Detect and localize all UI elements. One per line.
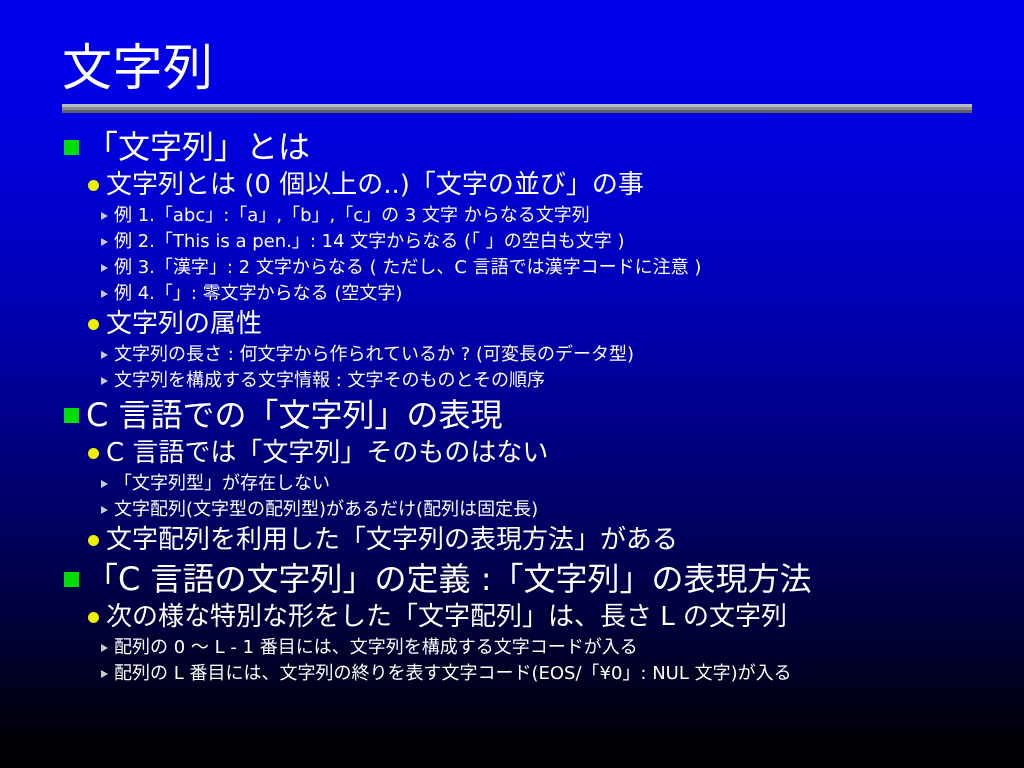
outline-item-level2: 文字列とは (0 個以上の..)「文字の並び」の事	[0, 168, 1024, 203]
outline-item-level2: 文字列の属性	[0, 307, 1024, 342]
gray-triangle-bullet	[101, 264, 108, 272]
outline-item-level3: 文字列の長さ : 何文字から作られているか ? (可変長のデータ型)	[0, 342, 1024, 368]
outline-item-level1: 「文字列」とは	[0, 126, 1024, 168]
green-square-bullet	[64, 408, 79, 423]
outline-item-label: 「文字列」とは	[86, 126, 310, 168]
outline-item-level1: C 言語での「文字列」の表現	[0, 394, 1024, 436]
outline-item-label: 文字列の長さ : 何文字から作られているか ? (可変長のデータ型)	[114, 342, 634, 368]
gray-triangle-bullet	[101, 238, 108, 246]
green-square-bullet	[64, 572, 79, 587]
outline-item-label: 例 3.「漢字」: 2 文字からなる ( ただし、C 言語では漢字コードに注意 …	[114, 255, 701, 281]
gray-triangle-bullet	[101, 670, 108, 678]
yellow-dot-bullet	[88, 319, 99, 330]
title-divider	[62, 104, 972, 113]
title-divider-shadow	[62, 110, 972, 113]
slide-body-outline: 「文字列」とは文字列とは (0 個以上の..)「文字の並び」の事例 1.「abc…	[0, 126, 1024, 687]
outline-item-label: 例 1.「abc」:「a」,「b」,「c」の 3 文字 からなる文字列	[114, 203, 590, 229]
yellow-dot-bullet	[88, 448, 99, 459]
outline-item-level1: 「C 言語の文字列」の定義 :「文字列」の表現方法	[0, 558, 1024, 600]
outline-item-level3: 例 2.「This is a pen.」: 14 文字からなる (「 」の空白も…	[0, 229, 1024, 255]
outline-item-label: 例 4.「」: 零文字からなる (空文字)	[114, 281, 402, 307]
gray-triangle-bullet	[101, 506, 108, 514]
outline-item-level3: 文字配列(文字型の配列型)があるだけ(配列は固定長)	[0, 497, 1024, 523]
gray-triangle-bullet	[101, 377, 108, 385]
yellow-dot-bullet	[88, 612, 99, 623]
outline-item-level2: C 言語では「文字列」そのものはない	[0, 436, 1024, 471]
page-title: 文字列	[62, 38, 972, 98]
outline-item-label: 文字列を構成する文字情報 : 文字そのものとその順序	[114, 368, 545, 394]
outline-item-label: 文字列の属性	[106, 307, 262, 342]
green-square-bullet	[64, 140, 79, 155]
outline-item-level3: 例 1.「abc」:「a」,「b」,「c」の 3 文字 からなる文字列	[0, 203, 1024, 229]
outline-item-label: 「C 言語の文字列」の定義 :「文字列」の表現方法	[86, 558, 811, 600]
outline-item-level3: 「文字列型」が存在しない	[0, 471, 1024, 497]
outline-item-label: 文字配列を利用した「文字列の表現方法」がある	[106, 523, 678, 558]
outline-item-level2: 次の様な特別な形をした「文字配列」は、長さ L の文字列	[0, 600, 1024, 635]
outline-item-label: 配列の 0 〜 L - 1 番目には、文字列を構成する文字コードが入る	[114, 635, 638, 661]
outline-item-level3: 例 4.「」: 零文字からなる (空文字)	[0, 281, 1024, 307]
outline-item-label: 次の様な特別な形をした「文字配列」は、長さ L の文字列	[106, 600, 787, 635]
gray-triangle-bullet	[101, 644, 108, 652]
gray-triangle-bullet	[101, 212, 108, 220]
presentation-slide: 文字列 「文字列」とは文字列とは (0 個以上の..)「文字の並び」の事例 1.…	[0, 0, 1024, 768]
outline-item-level3: 文字列を構成する文字情報 : 文字そのものとその順序	[0, 368, 1024, 394]
gray-triangle-bullet	[101, 480, 108, 488]
outline-item-level2: 文字配列を利用した「文字列の表現方法」がある	[0, 523, 1024, 558]
outline-item-level3: 例 3.「漢字」: 2 文字からなる ( ただし、C 言語では漢字コードに注意 …	[0, 255, 1024, 281]
outline-item-label: C 言語での「文字列」の表現	[86, 394, 503, 436]
yellow-dot-bullet	[88, 180, 99, 191]
outline-item-label: 文字列とは (0 個以上の..)「文字の並び」の事	[106, 168, 644, 203]
yellow-dot-bullet	[88, 535, 99, 546]
gray-triangle-bullet	[101, 351, 108, 359]
outline-item-level3: 配列の L 番目には、文字列の終りを表す文字コード(EOS/「¥0」: NUL …	[0, 661, 1024, 687]
outline-item-label: C 言語では「文字列」そのものはない	[106, 436, 548, 471]
outline-item-label: 配列の L 番目には、文字列の終りを表す文字コード(EOS/「¥0」: NUL …	[114, 661, 792, 687]
gray-triangle-bullet	[101, 290, 108, 298]
outline-item-label: 「文字列型」が存在しない	[114, 471, 330, 497]
outline-item-label: 文字配列(文字型の配列型)があるだけ(配列は固定長)	[114, 497, 538, 523]
outline-item-level3: 配列の 0 〜 L - 1 番目には、文字列を構成する文字コードが入る	[0, 635, 1024, 661]
outline-item-label: 例 2.「This is a pen.」: 14 文字からなる (「 」の空白も…	[114, 229, 625, 255]
